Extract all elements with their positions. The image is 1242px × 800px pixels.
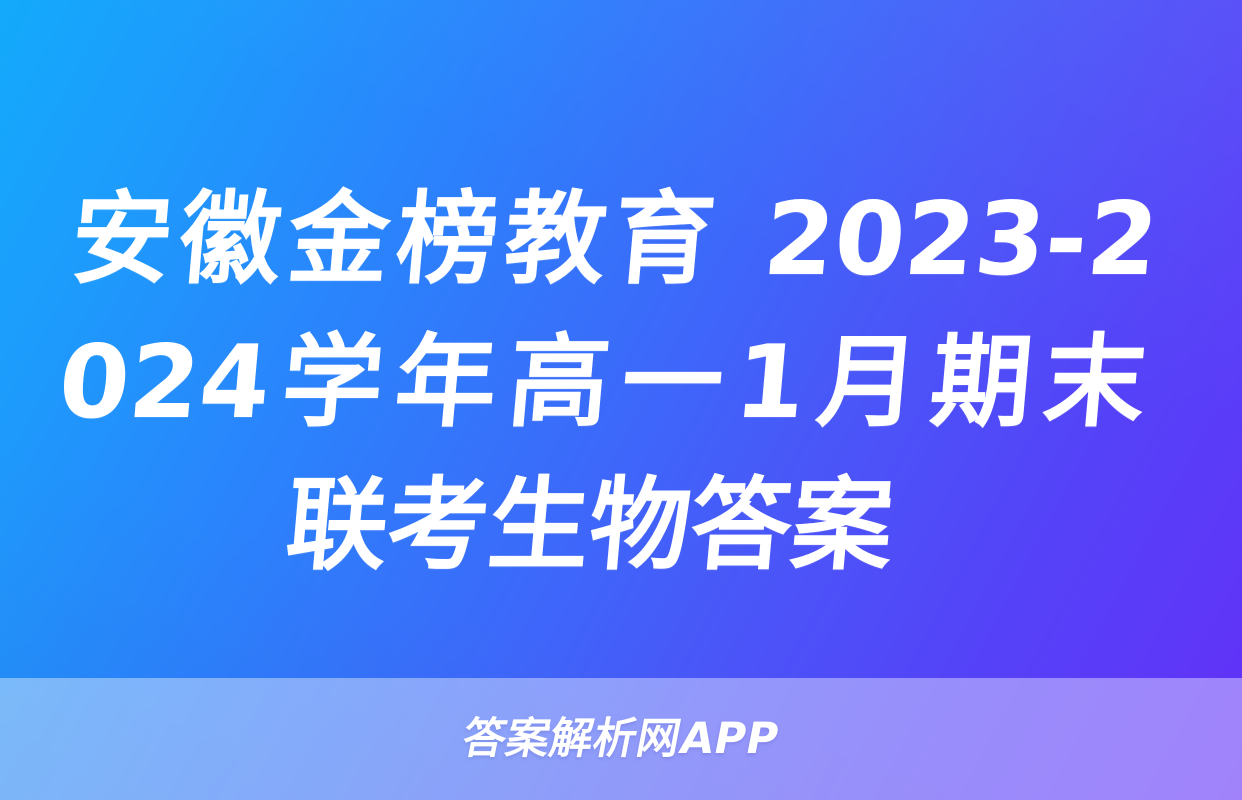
title-area: 安徽金榜教育 2023-2024学年高一1月期末联考生物答案 [78,168,1164,638]
watermark-band: 答案解析网APP [0,678,1242,800]
watermark-brand-label: 答案解析网APP [459,718,783,761]
page-title: 安徽金榜教育 2023-2024学年高一1月期末联考生物答案 [40,168,1164,597]
answer-poster-card: 安徽金榜教育 2023-2024学年高一1月期末联考生物答案 答案解析网APP [0,0,1242,800]
